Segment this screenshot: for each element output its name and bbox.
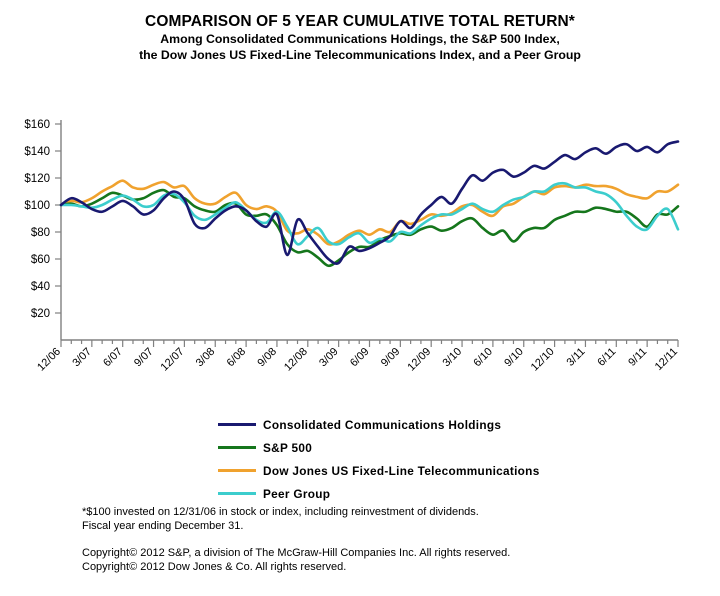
y-axis-ticks: $20$40$60$80$100$120$140$160 <box>24 119 61 320</box>
svg-text:$160: $160 <box>24 119 50 131</box>
page-title: COMPARISON OF 5 YEAR CUMULATIVE TOTAL RE… <box>0 12 720 31</box>
svg-text:12/11: 12/11 <box>653 346 680 373</box>
chart-subtitle-line-1: Among Consolidated Communications Holdin… <box>0 31 720 47</box>
chart-plot-area: $20$40$60$80$100$120$140$160 12/063/076/… <box>0 96 720 396</box>
svg-text:$140: $140 <box>24 146 50 158</box>
svg-text:12/10: 12/10 <box>529 346 557 374</box>
footnote-fiscal-year: Fiscal year ending December 31. <box>82 519 642 533</box>
series-line <box>61 142 678 264</box>
chart-subtitle-line-2: the Dow Jones US Fixed-Line Telecommunic… <box>0 47 720 63</box>
svg-text:9/07: 9/07 <box>132 346 156 370</box>
chart-title-block: COMPARISON OF 5 YEAR CUMULATIVE TOTAL RE… <box>0 12 720 63</box>
svg-text:3/09: 3/09 <box>317 346 341 370</box>
x-axis-labels: 12/063/076/079/0712/073/086/089/0812/083… <box>35 346 680 374</box>
footnote-spacer <box>82 533 642 546</box>
footnotes-block: *$100 invested on 12/31/06 in stock or i… <box>82 505 642 574</box>
legend-swatch-icon <box>218 446 256 450</box>
svg-text:9/10: 9/10 <box>502 346 526 370</box>
footnote-copyright-sp: Copyright© 2012 S&P, a division of The M… <box>82 546 642 560</box>
svg-text:3/07: 3/07 <box>70 346 94 370</box>
legend-swatch-icon <box>218 469 256 473</box>
legend-item[interactable]: Consolidated Communications Holdings <box>218 415 638 434</box>
legend-item-label: Peer Group <box>263 487 330 501</box>
svg-text:6/11: 6/11 <box>595 346 618 369</box>
svg-text:3/10: 3/10 <box>441 346 465 370</box>
svg-text:6/07: 6/07 <box>101 346 125 370</box>
svg-text:12/06: 12/06 <box>35 346 63 374</box>
legend-item[interactable]: Dow Jones US Fixed-Line Telecommunicatio… <box>218 461 638 480</box>
chart-page: COMPARISON OF 5 YEAR CUMULATIVE TOTAL RE… <box>0 0 720 596</box>
svg-text:3/08: 3/08 <box>194 346 218 370</box>
svg-text:6/09: 6/09 <box>348 346 372 370</box>
svg-text:9/11: 9/11 <box>626 346 649 369</box>
svg-text:$120: $120 <box>24 173 50 185</box>
svg-text:$20: $20 <box>31 308 50 320</box>
svg-text:9/08: 9/08 <box>255 346 279 370</box>
svg-text:6/08: 6/08 <box>225 346 249 370</box>
footnote-copyright-dj: Copyright© 2012 Dow Jones & Co. All righ… <box>82 560 642 574</box>
legend-item-label: S&P 500 <box>263 441 312 455</box>
legend-item-label: Consolidated Communications Holdings <box>263 418 501 432</box>
line-chart: $20$40$60$80$100$120$140$160 12/063/076/… <box>0 96 720 396</box>
svg-text:$100: $100 <box>24 200 50 212</box>
legend-swatch-icon <box>218 423 256 427</box>
svg-text:9/09: 9/09 <box>379 346 403 370</box>
series-line <box>61 190 678 266</box>
svg-text:12/09: 12/09 <box>405 346 433 374</box>
svg-text:6/10: 6/10 <box>471 346 495 370</box>
legend-item-label: Dow Jones US Fixed-Line Telecommunicatio… <box>263 464 540 478</box>
svg-text:3/11: 3/11 <box>565 346 588 369</box>
series-lines <box>61 142 678 266</box>
svg-text:$40: $40 <box>31 281 50 293</box>
x-axis-ticks <box>61 340 678 347</box>
svg-text:12/08: 12/08 <box>282 346 310 374</box>
svg-text:12/07: 12/07 <box>159 346 187 374</box>
footnote-investment-note: *$100 invested on 12/31/06 in stock or i… <box>82 505 642 519</box>
legend-item[interactable]: S&P 500 <box>218 438 638 457</box>
svg-text:$80: $80 <box>31 227 50 239</box>
legend-item[interactable]: Peer Group <box>218 484 638 503</box>
chart-legend: Consolidated Communications Holdings S&P… <box>218 415 638 507</box>
svg-text:$60: $60 <box>31 254 50 266</box>
legend-swatch-icon <box>218 492 256 496</box>
